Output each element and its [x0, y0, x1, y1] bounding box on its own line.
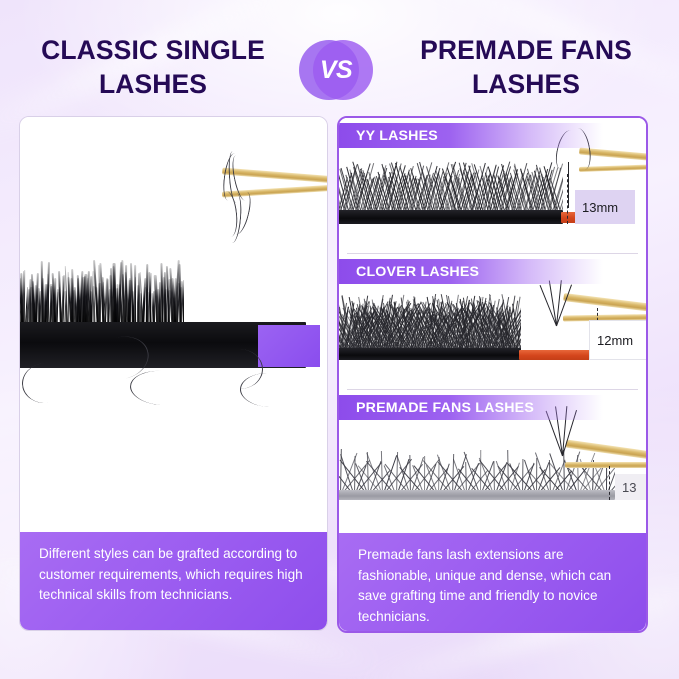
classic-single-lashes-panel: Different styles can be grafted accordin… — [19, 116, 328, 631]
premade-panel-caption: Premade fans lash extensions are fashion… — [339, 533, 646, 631]
clover-base-orange — [519, 350, 599, 360]
page-title-left: CLASSIC SINGLE LASHES — [8, 34, 298, 102]
section-clover-lashes: 12mm CLOVER LASHES — [339, 254, 646, 390]
premade-measure-line — [609, 466, 610, 500]
yy-length-label: 13mm — [575, 190, 635, 224]
section-label-yy: YY LASHES — [339, 123, 603, 148]
page-title-right: PREMADE FANS LASHES — [381, 34, 671, 102]
section-premade-fans-lashes: 13 PREMADE FANS LASHES — [339, 390, 646, 533]
clover-base-black — [339, 348, 521, 360]
lash-strip-purple-tab — [258, 325, 320, 367]
clover-held-fan — [555, 282, 557, 326]
classic-panel-caption: Different styles can be grafted accordin… — [20, 532, 327, 630]
classic-lash-illustration — [20, 117, 327, 532]
classic-panel-body — [20, 117, 327, 532]
premade-panel-body: 13mm YY LASHES — [339, 118, 646, 533]
section-label-premade-fans: PREMADE FANS LASHES — [339, 395, 603, 420]
section-yy-lashes: 13mm YY LASHES — [339, 118, 646, 254]
yy-measure-line — [567, 174, 568, 224]
clover-lash-tray-image — [339, 294, 521, 356]
vs-badge: VS — [299, 40, 373, 100]
premade-base-gray — [339, 490, 615, 500]
classic-lash-fringe — [20, 257, 184, 327]
section-label-clover: CLOVER LASHES — [339, 259, 603, 284]
clover-length-label: 12mm — [589, 320, 646, 360]
premade-fans-lashes-panel: 13mm YY LASHES — [337, 116, 648, 633]
tweezer-icon — [563, 450, 646, 474]
premade-length-label: 13 — [615, 474, 646, 500]
header: CLASSIC SINGLE LASHES VS PREMADE FANS LA… — [0, 0, 679, 112]
infographic-root: CLASSIC SINGLE LASHES VS PREMADE FANS LA… — [0, 0, 679, 679]
yy-base-black — [339, 210, 563, 224]
vs-label: VS — [299, 40, 373, 100]
